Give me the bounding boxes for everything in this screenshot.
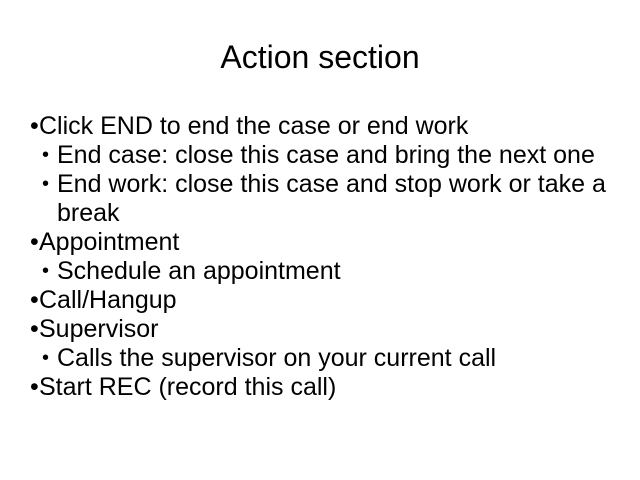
list-item: • Supervisor: [29, 315, 611, 344]
bullet-dot-icon: •: [30, 315, 40, 344]
presentation-slide: Action section • Click END to end the ca…: [0, 0, 640, 480]
list-item: • End case: close this case and bring th…: [29, 141, 611, 170]
list-item-label: Click END to end the case or end work: [39, 112, 468, 140]
list-item: • Appointment: [29, 228, 611, 257]
list-item-label: Appointment: [39, 228, 179, 256]
list-item: • Calls the supervisor on your current c…: [29, 344, 611, 373]
slide-body-content: • Click END to end the case or end work …: [29, 112, 611, 402]
bullet-dot-icon: •: [30, 286, 40, 315]
list-item: • Call/Hangup: [29, 286, 611, 315]
page-title: Action section: [0, 38, 640, 76]
list-item-label: Calls the supervisor on your current cal…: [57, 344, 496, 372]
list-item-label: End case: close this case and bring the …: [57, 141, 595, 169]
bullet-dot-icon: •: [42, 257, 58, 286]
bullet-dot-icon: •: [30, 373, 40, 402]
bullet-dot-icon: •: [42, 170, 58, 199]
list-item-label: Supervisor: [39, 315, 159, 343]
bullet-dot-icon: •: [30, 112, 40, 141]
list-item: • Schedule an appointment: [29, 257, 611, 286]
bullet-dot-icon: •: [30, 228, 40, 257]
bullet-dot-icon: •: [42, 344, 58, 373]
list-item-label: Schedule an appointment: [57, 257, 341, 285]
list-item: • Start REC (record this call): [29, 373, 611, 402]
list-item-label: Start REC (record this call): [39, 373, 336, 401]
list-item: • End work: close this case and stop wor…: [29, 170, 611, 228]
list-item-label: Call/Hangup: [39, 286, 177, 314]
list-item: • Click END to end the case or end work: [29, 112, 611, 141]
bullet-dot-icon: •: [42, 141, 58, 170]
list-item-label: End work: close this case and stop work …: [57, 170, 606, 227]
